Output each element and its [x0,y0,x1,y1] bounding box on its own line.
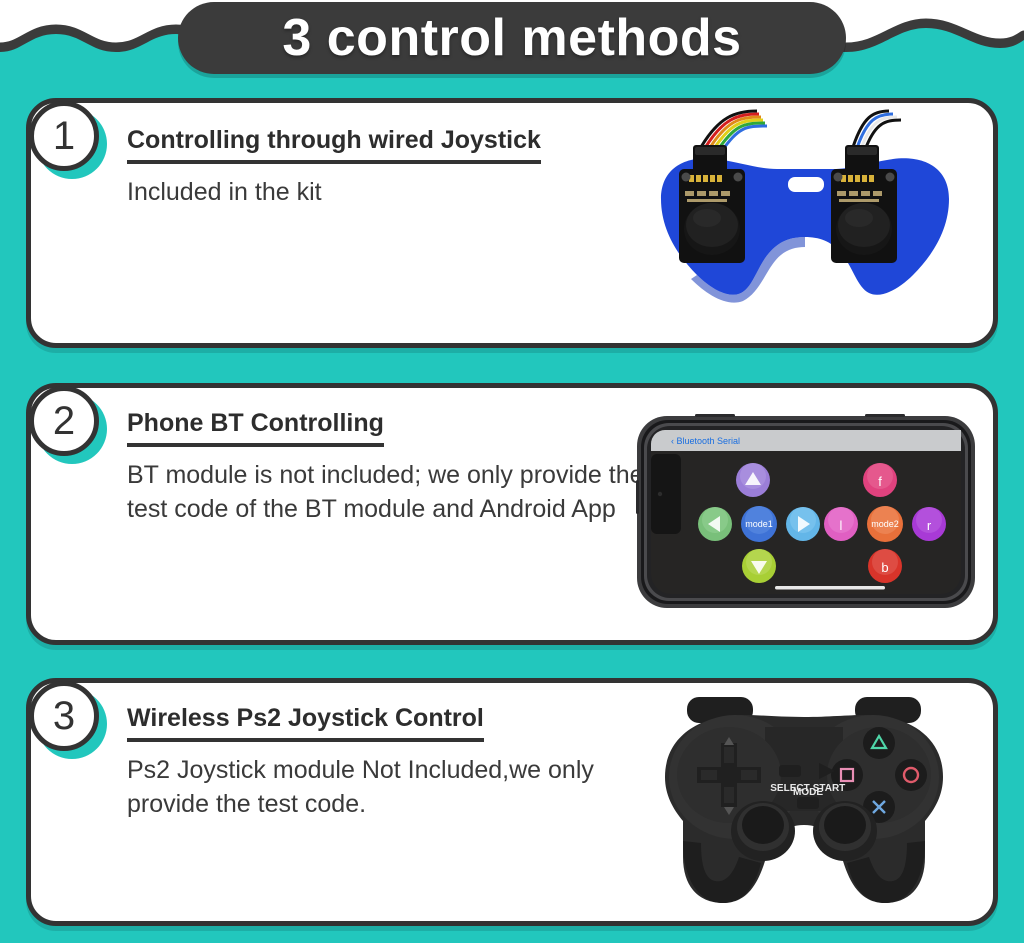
step-number-1: 1 [53,116,75,156]
card-3-body: Ps2 Joystick module Not Included,we only… [127,754,657,822]
page-title-pill: 3 control methods [178,2,846,74]
circle-button [895,759,927,791]
badge-outline-circle: 1 [29,101,99,171]
smartphone-bt-app-image: ‹ Bluetooth Serial mode1 [635,414,977,610]
card-1-heading: Controlling through wired Joystick [127,125,541,164]
mode1-label: mode1 [745,519,773,529]
card-1-body: Included in the kit [127,176,647,210]
step-number-badge-2: 2 [29,386,107,464]
r-label: r [927,518,932,533]
step-number-badge-3: 3 [29,681,107,759]
card-2-heading: Phone BT Controlling [127,408,384,447]
card-3-text-block: Wireless Ps2 Joystick Control Ps2 Joysti… [127,703,657,822]
step-number-badge-1: 1 [29,101,107,179]
l-label: l [840,518,843,533]
f-label: f [878,474,882,489]
card-1-text-block: Controlling through wired Joystick Inclu… [127,125,647,210]
card-3-heading: Wireless Ps2 Joystick Control [127,703,484,742]
mode2-label: mode2 [871,519,899,529]
badge-outline-circle: 3 [29,681,99,751]
card-2-body: BT module is not included; we only provi… [127,459,667,527]
ps2-wireless-controller-image: SELECT MODE START [639,691,969,913]
step-number-3: 3 [53,696,75,736]
page-title: 3 control methods [282,12,741,64]
bt-back-label: ‹ Bluetooth Serial [671,436,740,446]
b-label: b [881,560,888,575]
ribbon-cable-right [853,111,901,150]
step-number-2: 2 [53,401,75,441]
badge-outline-circle: 2 [29,386,99,456]
blue-gamepad-joystick-image [631,107,979,345]
start-label: START [813,783,846,794]
triangle-button [863,727,895,759]
method-card-3: 3 Wireless Ps2 Joystick Control Ps2 Joys… [26,678,998,926]
card-2-text-block: Phone BT Controlling BT module is not in… [127,408,667,527]
method-card-2: 2 Phone BT Controlling BT module is not … [26,383,998,645]
joystick-module-right [831,111,901,263]
method-card-1: 1 Controlling through wired Joystick Inc… [26,98,998,348]
